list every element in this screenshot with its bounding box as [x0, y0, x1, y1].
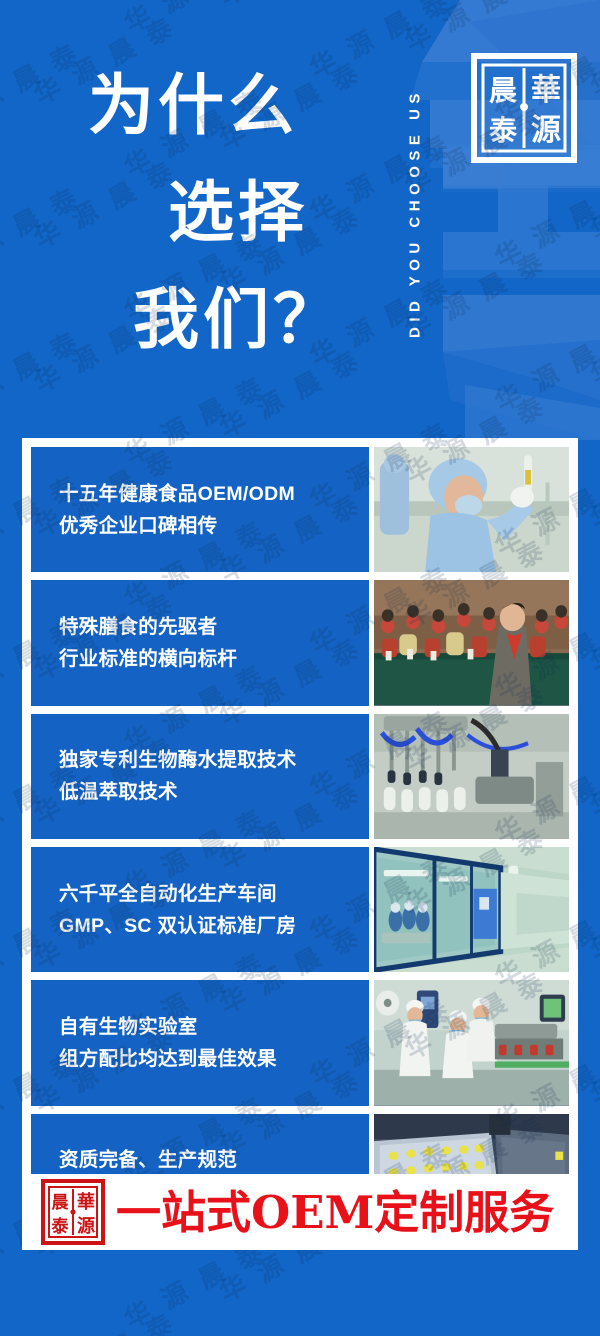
seal-stamp-red-icon: 華 源 晨 泰 — [40, 1178, 106, 1246]
svg-text:源: 源 — [77, 1215, 95, 1237]
headline-line-3: 我们？ — [88, 266, 388, 373]
feature-line-2: 行业标准的横向标杆 — [59, 643, 369, 675]
feature-line-2: 组方配比均达到最佳效果 — [59, 1043, 369, 1075]
feature-text-card: 特殊膳食的先驱者行业标准的横向标杆 — [31, 580, 369, 705]
svg-text:晨: 晨 — [489, 74, 518, 107]
feature-line-2: GMP、SC 双认证标准厂房 — [59, 910, 369, 942]
photo-filling-machine-line — [374, 714, 569, 839]
feature-line-1: 特殊膳食的先驱者 — [59, 611, 369, 643]
feature-text-card: 十五年健康食品OEM/ODM优秀企业口碑相传 — [31, 447, 369, 572]
feature-line-1: 资质完备、生产规范 — [59, 1144, 369, 1176]
feature-row: 自有生物实验室组方配比均达到最佳效果 — [31, 980, 569, 1105]
photo-cleanroom-corridor — [374, 847, 569, 972]
photo-lab-technician-blue-scrubs — [374, 447, 569, 572]
feature-line-1: 独家专利生物酶水提取技术 — [59, 744, 369, 776]
feature-text-card: 六千平全自动化生产车间GMP、SC 双认证标准厂房 — [31, 847, 369, 972]
svg-text:華: 華 — [77, 1191, 95, 1213]
feature-text-card: 自有生物实验室组方配比均达到最佳效果 — [31, 980, 369, 1105]
bottom-banner: 華 源 晨 泰 一站式OEM定制服务 — [22, 1174, 578, 1250]
feature-line-1: 十五年健康食品OEM/ODM — [59, 478, 369, 510]
svg-text:晨: 晨 — [52, 1193, 70, 1213]
banner-headline: 一站式OEM定制服务 — [116, 1190, 554, 1235]
seal-stamp-icon: 華 源 晨 泰 — [470, 52, 578, 164]
features-panel: 十五年健康食品OEM/ODM优秀企业口碑相传 特殊膳食的先驱者行业标准的横向标杆 — [22, 438, 578, 1248]
feature-line-1: 自有生物实验室 — [59, 1011, 369, 1043]
svg-text:華: 華 — [531, 73, 561, 108]
feature-row: 六千平全自动化生产车间GMP、SC 双认证标准厂房 — [31, 847, 569, 972]
poster-header: 为什么 选择 我们？ DID YOU CHOOSE US 華 源 晨 泰 — [0, 0, 600, 440]
feature-line-1: 六千平全自动化生产车间 — [59, 878, 369, 910]
page-title: 为什么 选择 我们？ — [88, 52, 388, 373]
feature-line-2: 优秀企业口碑相传 — [59, 510, 369, 542]
poster-root: 华源晨泰 华源晨泰 华源晨泰 华源晨泰 华源晨泰 华源晨泰 华源晨泰 华源晨泰 … — [0, 0, 600, 1336]
feature-text-card: 独家专利生物酶水提取技术低温萃取技术 — [31, 714, 369, 839]
feature-row: 独家专利生物酶水提取技术低温萃取技术 — [31, 714, 569, 839]
feature-row: 十五年健康食品OEM/ODM优秀企业口碑相传 — [31, 447, 569, 572]
svg-text:泰: 泰 — [489, 114, 518, 147]
svg-text:源: 源 — [531, 113, 561, 148]
photo-conference-audience — [374, 580, 569, 705]
svg-text:泰: 泰 — [52, 1216, 70, 1237]
headline-line-2: 选择 — [88, 159, 388, 266]
vertical-english-subtitle: DID YOU CHOOSE US — [398, 18, 432, 408]
feature-line-2: 低温萃取技术 — [59, 776, 369, 808]
photo-white-coat-workers — [374, 980, 569, 1105]
feature-row: 特殊膳食的先驱者行业标准的横向标杆 — [31, 580, 569, 705]
headline-line-1: 为什么 — [88, 52, 388, 159]
